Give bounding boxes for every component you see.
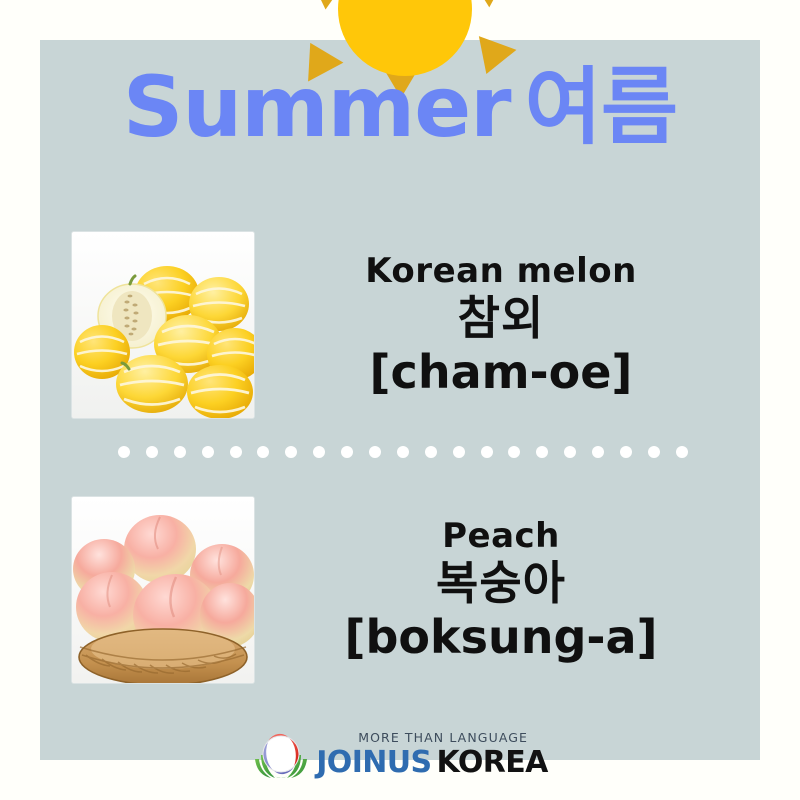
vocab-entry-korean-melon: Korean melon 참외 [cham-oe]	[40, 230, 760, 420]
divider-dot	[341, 446, 353, 458]
divider-dot	[536, 446, 548, 458]
logo-name: JOINUSKOREA	[316, 748, 548, 778]
divider-dot	[481, 446, 493, 458]
divider-dot	[369, 446, 381, 458]
brand-logo[interactable]: MORE THAN LANGUAGE JOINUSKOREA	[0, 729, 800, 781]
divider-dot	[285, 446, 297, 458]
divider-dot	[620, 446, 632, 458]
vocab-korean: 복숭아	[260, 556, 742, 610]
divider-dot	[453, 446, 465, 458]
divider-dot	[146, 446, 158, 458]
divider-dot	[257, 446, 269, 458]
logo-name-joinus: JOINUS	[316, 745, 431, 780]
korean-melon-photo	[72, 232, 254, 418]
page-title: Summer여름	[40, 62, 760, 153]
divider-dot	[564, 446, 576, 458]
divider-dot	[313, 446, 325, 458]
vocab-text-peach: Peach 복숭아 [boksung-a]	[254, 516, 760, 664]
divider-dot	[397, 446, 409, 458]
divider-dot	[648, 446, 660, 458]
divider-dot	[425, 446, 437, 458]
divider-dot	[118, 446, 130, 458]
vocab-romanization: [boksung-a]	[260, 611, 742, 664]
page-title-korean: 여름	[525, 58, 678, 156]
vocab-text-korean-melon: Korean melon 참외 [cham-oe]	[254, 251, 760, 399]
page-title-english: Summer	[123, 58, 511, 156]
logo-name-korea: KOREA	[437, 745, 548, 780]
vocab-english: Korean melon	[260, 251, 742, 291]
peach-photo	[72, 497, 254, 683]
summer-vocabulary-card: Summer여름	[0, 0, 800, 800]
logo-text: MORE THAN LANGUAGE JOINUSKOREA	[316, 732, 548, 778]
divider-dot	[508, 446, 520, 458]
divider-dot	[676, 446, 688, 458]
divider-dot	[592, 446, 604, 458]
vocab-korean: 참외	[260, 291, 742, 345]
vocab-romanization: [cham-oe]	[260, 346, 742, 399]
divider-dot	[202, 446, 214, 458]
logo-tagline: MORE THAN LANGUAGE	[358, 732, 528, 745]
divider-dot	[174, 446, 186, 458]
dotted-divider	[118, 446, 688, 458]
joinus-korea-emblem-icon	[252, 729, 310, 781]
vocab-english: Peach	[260, 516, 742, 556]
divider-dot	[230, 446, 242, 458]
vocab-entry-peach: Peach 복숭아 [boksung-a]	[40, 495, 760, 685]
sun-ray	[471, 0, 514, 7]
